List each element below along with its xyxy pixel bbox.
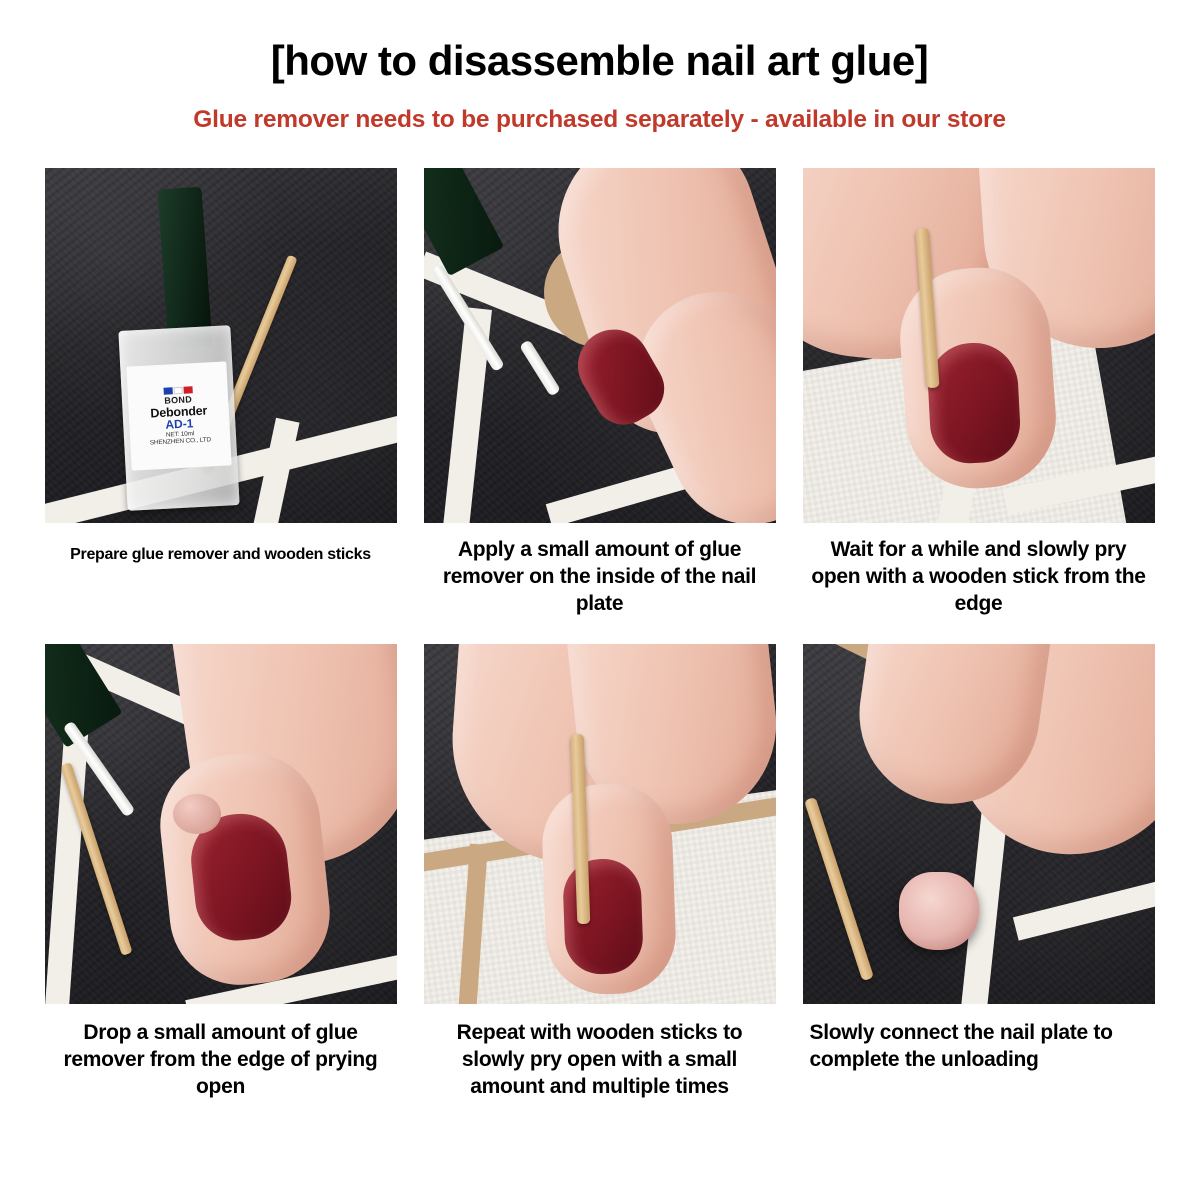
step-card-6: Slowly connect the nail plate to complet… — [790, 644, 1167, 1101]
step-5-caption: Repeat with wooden sticks to slowly pry … — [425, 1020, 775, 1101]
step-card-4: Drop a small amount of glue remover from… — [32, 644, 409, 1101]
step-1-photo: BOND Debonder AD-1 NET: 10ml SHENZHEN CO… — [45, 168, 397, 523]
step-3-caption: Wait for a while and slowly pry open wit… — [804, 537, 1154, 618]
nail-red — [562, 857, 644, 975]
step-card-3: Wait for a while and slowly pry open wit… — [790, 168, 1167, 618]
page-title: [how to disassemble nail art glue] — [0, 0, 1199, 84]
nail-red — [925, 341, 1021, 466]
step-1-caption: Prepare glue remover and wooden sticks — [46, 545, 396, 565]
step-4-photo — [45, 644, 397, 1004]
infographic-page: [how to disassemble nail art glue] Glue … — [0, 0, 1199, 1200]
step-6-caption: Slowly connect the nail plate to complet… — [804, 1020, 1154, 1074]
removed-nail-plate — [899, 872, 979, 950]
step-2-caption: Apply a small amount of glue remover on … — [425, 537, 775, 618]
step-card-2: Apply a small amount of glue remover on … — [411, 168, 788, 618]
steps-row-1: BOND Debonder AD-1 NET: 10ml SHENZHEN CO… — [0, 168, 1199, 618]
glue-drop — [173, 794, 221, 834]
step-card-1: BOND Debonder AD-1 NET: 10ml SHENZHEN CO… — [32, 168, 409, 618]
bottle-label: BOND Debonder AD-1 NET: 10ml SHENZHEN CO… — [126, 362, 231, 471]
step-6-photo — [803, 644, 1155, 1004]
steps-row-2: Drop a small amount of glue remover from… — [0, 644, 1199, 1101]
page-subtitle: Glue remover needs to be purchased separ… — [0, 106, 1199, 134]
step-3-photo — [803, 168, 1155, 523]
step-2-photo — [424, 168, 776, 523]
step-card-5: Repeat with wooden sticks to slowly pry … — [411, 644, 788, 1101]
step-5-photo — [424, 644, 776, 1004]
label-company: SHENZHEN CO., LTD — [149, 437, 210, 447]
step-4-caption: Drop a small amount of glue remover from… — [46, 1020, 396, 1101]
